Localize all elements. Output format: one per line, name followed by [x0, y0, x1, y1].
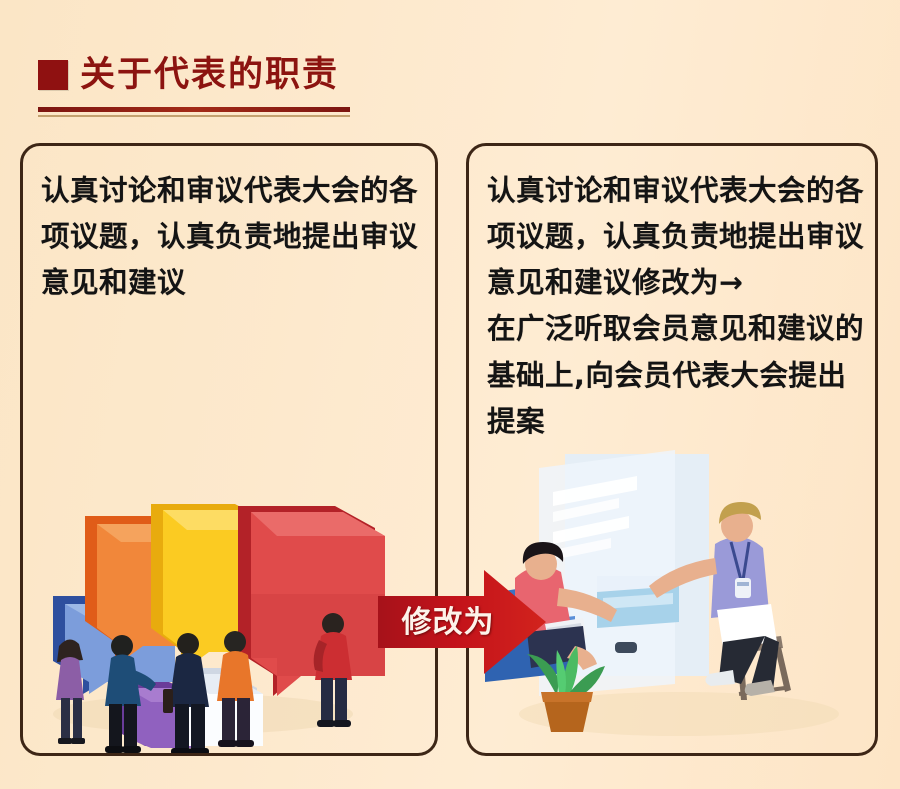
- arrow-shape: [378, 570, 546, 674]
- title-row: 关于代表的职责: [38, 52, 368, 98]
- poster-canvas: 关于代表的职责 认真讨论和审议代表大会的各项议题，认真负责地提出审议意见和建议: [0, 0, 900, 789]
- square-bullet-icon: [38, 60, 68, 90]
- title-underline-thin: [38, 115, 350, 117]
- card-original-text: 认真讨论和审议代表大会的各项议题，认真负责地提出审议意见和建议: [41, 168, 425, 306]
- card-revised-text: 认真讨论和审议代表大会的各项议题，认真负责地提出审议意见和建议修改为→ 在广泛听…: [487, 168, 865, 445]
- title-underline: [38, 107, 350, 117]
- page-title: 关于代表的职责: [80, 58, 339, 93]
- page-header: 关于代表的职责: [38, 52, 368, 117]
- speech-bubbles-and-crowd-illustration: [23, 446, 435, 756]
- speech-bubble-red: [238, 506, 385, 696]
- person-purple: [56, 639, 85, 744]
- modify-arrow: [376, 568, 548, 676]
- title-underline-thick: [38, 107, 350, 112]
